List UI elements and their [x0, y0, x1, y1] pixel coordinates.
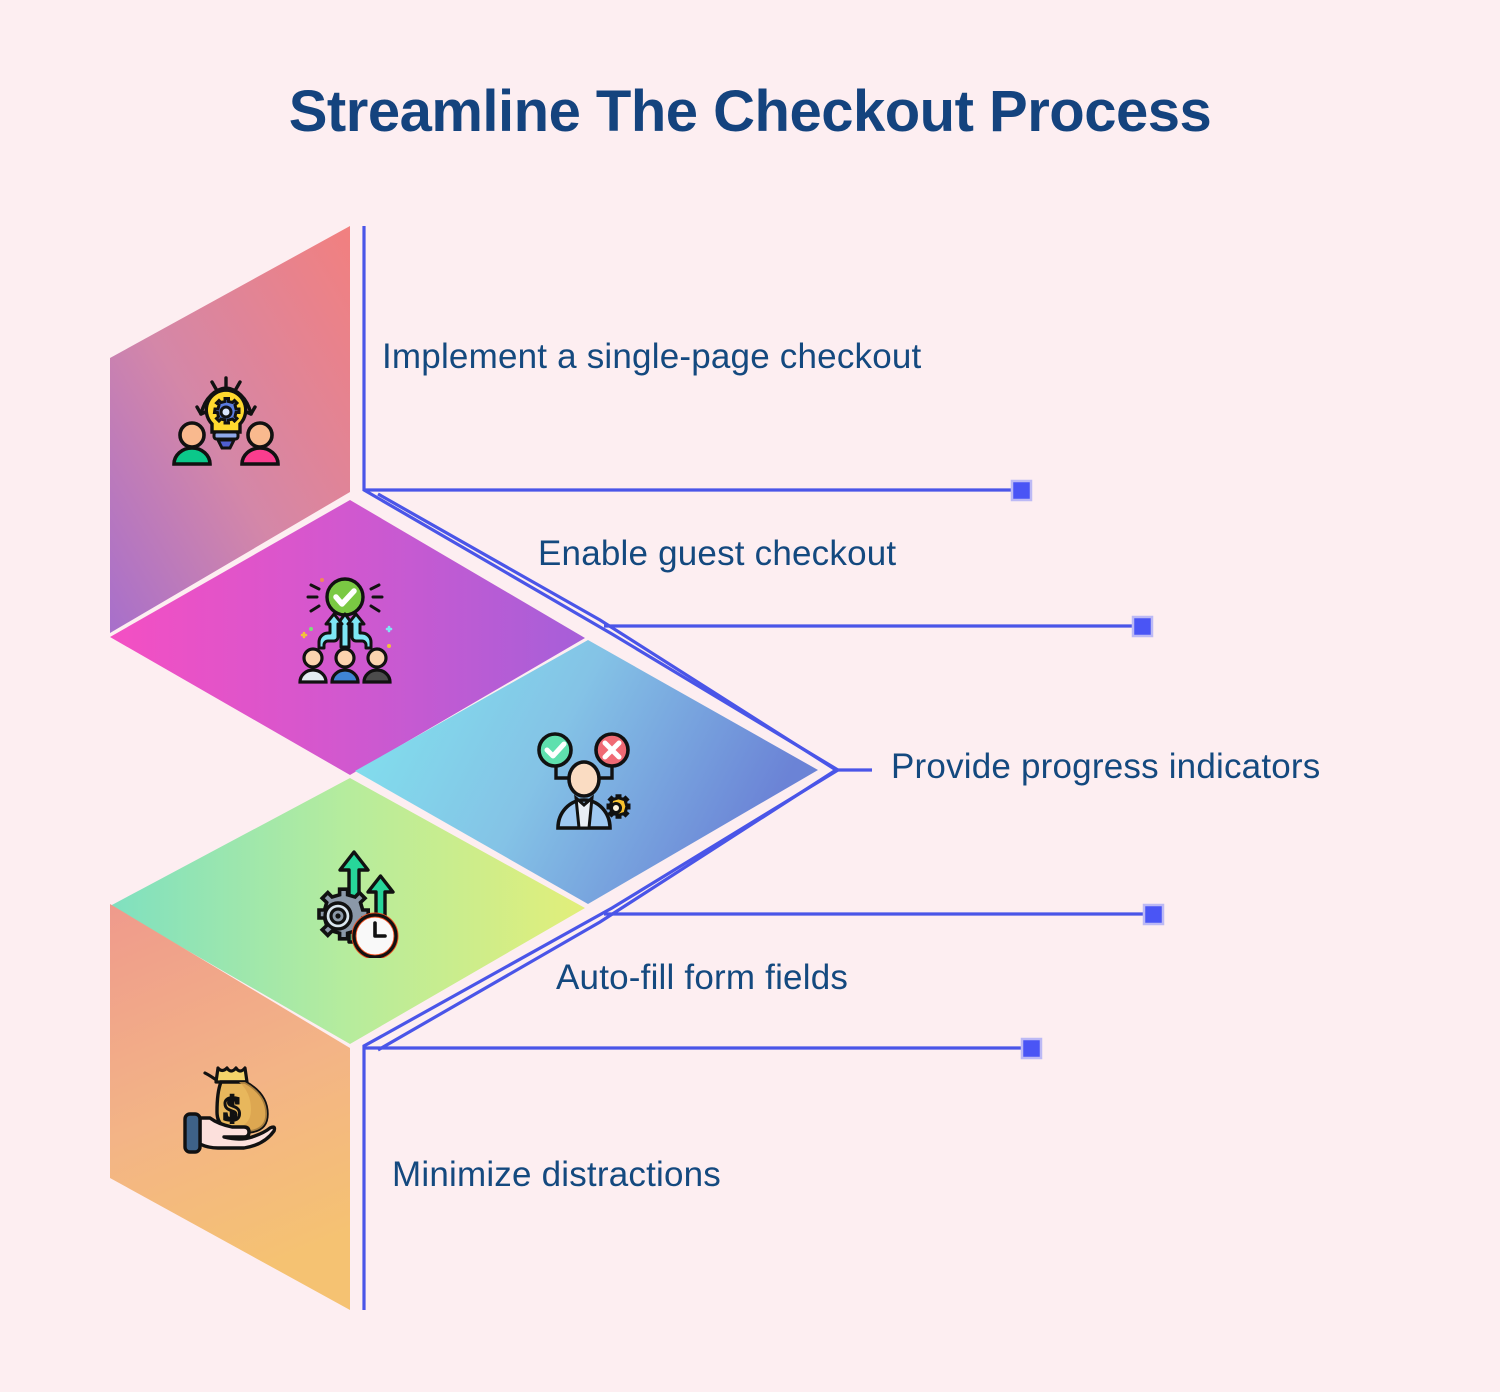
icon-step-3	[528, 718, 640, 830]
connector-lines-layer	[0, 0, 1500, 1392]
icon-step-2	[288, 572, 402, 686]
hand-money-bag-icon: $	[175, 1048, 291, 1158]
icon-step-4	[292, 842, 408, 958]
svg-text:$: $	[224, 1091, 241, 1128]
label-step-2: Enable guest checkout	[538, 534, 896, 574]
label-step-5: Minimize distractions	[392, 1155, 721, 1195]
infographic-canvas: Streamline The Checkout Process	[0, 0, 1500, 1392]
icon-step-1	[168, 372, 284, 482]
label-step-3: Provide progress indicators	[891, 747, 1320, 787]
icon-step-5: $	[175, 1048, 291, 1158]
person-check-cross-gear-icon	[528, 718, 640, 830]
marker-square-5[interactable]	[1022, 1039, 1041, 1058]
lightbulb-gear-people-icon	[168, 372, 284, 482]
marker-square-2[interactable]	[1133, 617, 1152, 636]
gear-arrows-clock-icon	[292, 842, 408, 958]
label-step-4: Auto-fill form fields	[556, 958, 848, 998]
people-arrows-check-icon	[288, 572, 402, 686]
marker-square-4[interactable]	[1144, 905, 1163, 924]
marker-square-1[interactable]	[1012, 481, 1031, 500]
label-step-1: Implement a single-page checkout	[382, 337, 921, 377]
